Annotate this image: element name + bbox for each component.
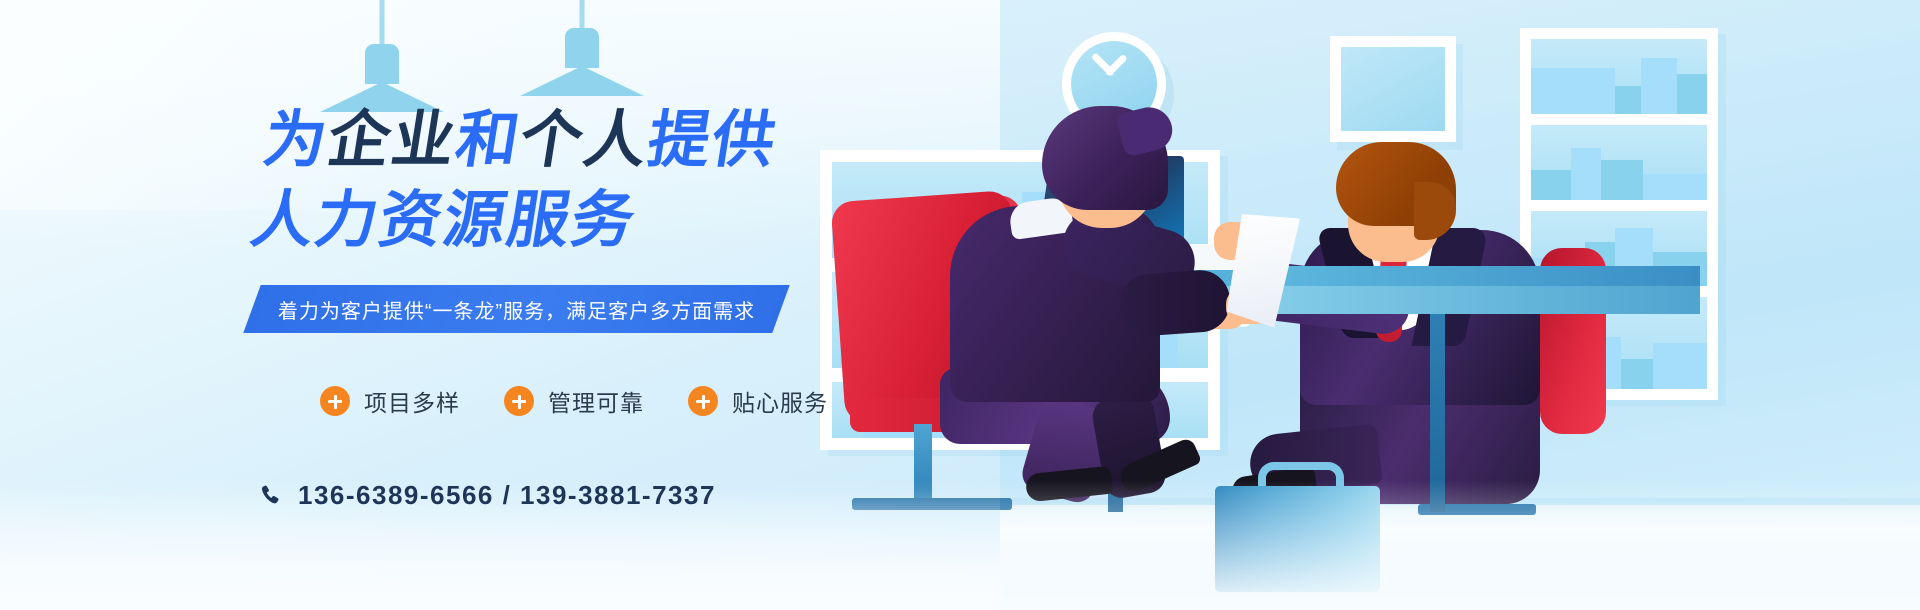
office-illustration	[1000, 0, 1920, 610]
contact-phone[interactable]: 136-6389-6566 / 139-3881-7337	[258, 480, 716, 511]
headline-line-2: 人力资源服务	[246, 184, 770, 258]
feature-label-3: 贴心服务	[732, 384, 828, 418]
headline-line-1: 为企业和个人提供	[258, 104, 782, 178]
headline: 为企业和个人提供 人力资源服务	[246, 104, 782, 258]
plus-icon	[688, 386, 718, 416]
person-left-arm-lower	[1118, 268, 1232, 338]
plus-icon	[320, 386, 350, 416]
banner-content: 为企业和个人提供 人力资源服务 着力为客户提供“一条龙”服务，满足客户多方面需求…	[0, 0, 1000, 610]
feature-label-1: 项目多样	[364, 384, 460, 418]
subtitle-text: 着力为客户提供“一条龙”服务，满足客户多方面需求	[278, 295, 755, 324]
picture-frame	[1330, 36, 1456, 142]
feature-label-2: 管理可靠	[548, 384, 644, 418]
headline-seg-1: 为	[259, 106, 334, 175]
headline-seg-3: 和	[451, 106, 526, 175]
plus-icon	[504, 386, 534, 416]
feature-item-2[interactable]: 管理可靠	[504, 384, 644, 418]
desk-leg-right	[1430, 314, 1445, 512]
feature-item-3[interactable]: 贴心服务	[688, 384, 828, 418]
headline-seg-5: 提供	[643, 106, 782, 175]
phone-icon	[258, 483, 284, 509]
phone-number: 136-6389-6566 / 139-3881-7337	[298, 480, 716, 511]
feature-list: 项目多样 管理可靠 贴心服务	[320, 384, 828, 418]
headline-seg-4: 个人	[515, 106, 654, 175]
hr-services-banner: 为企业和个人提供 人力资源服务 着力为客户提供“一条龙”服务，满足客户多方面需求…	[0, 0, 1920, 610]
headline-seg-2: 企业	[323, 106, 462, 175]
feature-item-1[interactable]: 项目多样	[320, 384, 460, 418]
briefcase	[1215, 486, 1380, 592]
subtitle-banner: 着力为客户提供“一条龙”服务，满足客户多方面需求	[243, 285, 790, 333]
